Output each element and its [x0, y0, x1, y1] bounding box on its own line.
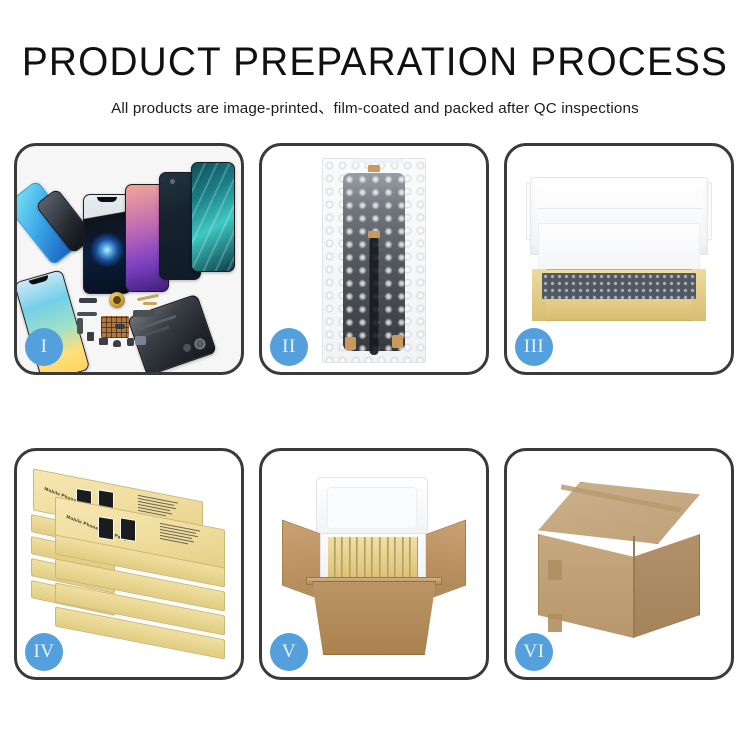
- process-step-panel-5[interactable]: V: [259, 448, 489, 680]
- teal-phone-icon: [191, 162, 235, 272]
- battery-connector-part: [79, 298, 97, 303]
- bag-seal: [353, 158, 403, 163]
- small-part: [115, 324, 125, 329]
- box-window-thumb: [98, 516, 114, 541]
- flex-cable-part: [133, 310, 155, 317]
- gold-flex-cable-part: [137, 294, 159, 302]
- wallpaper-swirl: [90, 233, 124, 267]
- tape-piece: [368, 231, 380, 238]
- step-badge-5: V: [270, 633, 308, 671]
- process-step-grid: I II: [14, 143, 736, 680]
- teardown-backshell-icon: [127, 294, 217, 375]
- process-step-panel-3[interactable]: III: [504, 143, 734, 375]
- step-badge-6: VI: [515, 633, 553, 671]
- carton-top-face: [538, 482, 700, 544]
- flex-cable-part: [77, 318, 83, 334]
- punch-hole-shape: [170, 179, 175, 184]
- carton-body: [312, 581, 436, 655]
- foam-lined-carton: [276, 473, 472, 661]
- stacked-boxes: Mobile Phone Spare Parts Mobile Phone Sp…: [29, 467, 229, 665]
- carton-corner-seam: [633, 536, 635, 636]
- foam-lid: [316, 477, 428, 539]
- speaker-part: [113, 340, 121, 347]
- notch-shape: [97, 197, 117, 202]
- page-subtitle: All products are image-printed、film-coat…: [0, 96, 750, 118]
- packed-yellow-boxes: [328, 537, 418, 581]
- cable-connector: [345, 337, 356, 350]
- sealed-carton: [526, 478, 712, 654]
- taptic-coin-part-icon: [109, 292, 125, 308]
- process-step-panel-6[interactable]: VI: [504, 448, 734, 680]
- process-step-panel-2[interactable]: II: [259, 143, 489, 375]
- gold-flex-cable-part: [143, 302, 157, 305]
- carton-tape-patch: [548, 560, 562, 580]
- process-step-panel-4[interactable]: Mobile Phone Spare Parts Mobile Phone Sp…: [14, 448, 244, 680]
- step-badge-3: III: [515, 328, 553, 366]
- small-part: [127, 338, 134, 346]
- step-badge-2: II: [270, 328, 308, 366]
- process-step-panel-1[interactable]: I: [14, 143, 244, 375]
- header: PRODUCT PREPARATION PROCESS All products…: [0, 0, 750, 118]
- white-foam-sheet: [538, 223, 700, 275]
- page-title: PRODUCT PREPARATION PROCESS: [11, 42, 739, 82]
- tape-piece: [368, 165, 380, 172]
- step-badge-1: I: [25, 328, 63, 366]
- cable-connector: [392, 335, 403, 348]
- small-part: [135, 336, 146, 345]
- black-front-glass-icon: [83, 194, 131, 294]
- small-part: [87, 332, 94, 341]
- box-spec-lines: [160, 523, 204, 550]
- grey-bubble-padding: [542, 273, 696, 299]
- notch-shape: [29, 275, 50, 285]
- carton-tape-patch: [548, 614, 562, 632]
- carton-right-face: [633, 534, 700, 638]
- box-window-thumb: [120, 517, 136, 542]
- bubble-wrap-bag: [322, 158, 426, 363]
- camera-lens-shape: [182, 343, 192, 353]
- camera-lens-shape: [193, 337, 207, 351]
- display-flex-cable: [370, 237, 379, 355]
- product-preparation-infographic: PRODUCT PREPARATION PROCESS All products…: [0, 0, 750, 750]
- open-inner-box: [524, 177, 714, 347]
- flex-cable-part: [77, 312, 97, 316]
- small-part: [99, 338, 108, 345]
- step-badge-4: IV: [25, 633, 63, 671]
